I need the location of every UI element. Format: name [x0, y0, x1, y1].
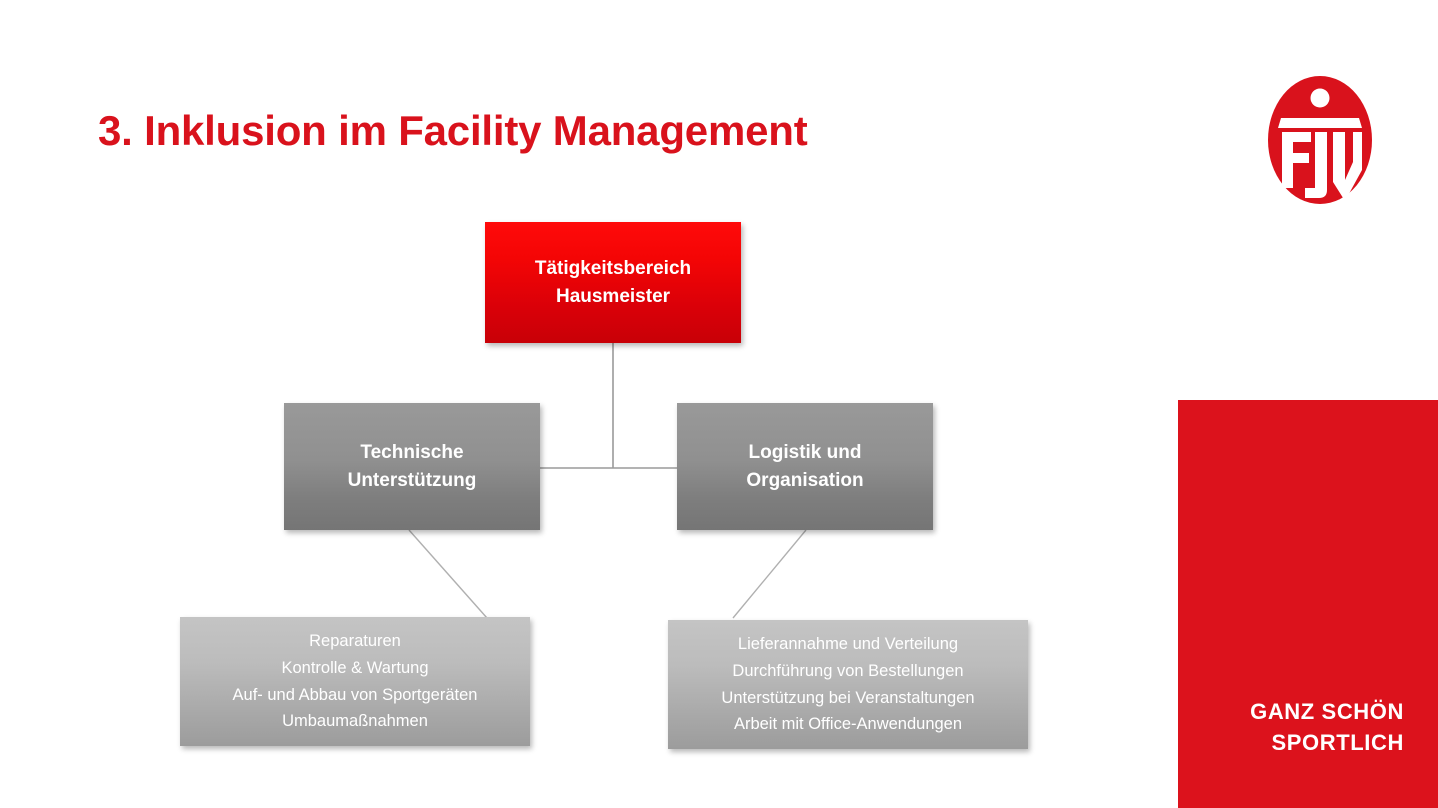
node-root[interactable]: Tätigkeitsbereich Hausmeister: [485, 222, 741, 343]
list-item: Kontrolle & Wartung: [281, 655, 428, 682]
connector-right-diagonal: [733, 530, 806, 618]
node-branch-logistik[interactable]: Logistik und Organisation: [677, 403, 933, 530]
node-branch-technische[interactable]: Technische Unterstützung: [284, 403, 540, 530]
node-list-logistik[interactable]: Lieferannahme und Verteilung Durchführun…: [668, 620, 1028, 749]
brand-slogan: GANZ SCHÖN SPORTLICH: [1250, 697, 1404, 758]
ftv-logo: [1261, 70, 1379, 210]
ftv-oval-monogram-icon: [1261, 70, 1379, 210]
brand-side-panel: GANZ SCHÖN SPORTLICH: [1178, 400, 1438, 808]
list-item: Unterstützung bei Veranstaltungen: [721, 685, 974, 712]
slide-canvas: 3. Inklusion im Facility Management GANZ…: [0, 0, 1438, 808]
list-item: Lieferannahme und Verteilung: [738, 631, 958, 658]
list-item: Durchführung von Bestellungen: [732, 658, 963, 685]
connector-left-diagonal: [409, 530, 487, 618]
list-item: Reparaturen: [309, 628, 401, 655]
node-list-technische[interactable]: Reparaturen Kontrolle & Wartung Auf- und…: [180, 617, 530, 746]
org-chart: Tätigkeitsbereich Hausmeister Technische…: [0, 0, 1160, 808]
node-root-label: Tätigkeitsbereich Hausmeister: [535, 255, 691, 310]
list-item: Umbaumaßnahmen: [282, 708, 428, 735]
list-item: Arbeit mit Office-Anwendungen: [734, 711, 962, 738]
node-branch-logistik-label: Logistik und Organisation: [746, 439, 863, 494]
list-item: Auf- und Abbau von Sportgeräten: [233, 682, 478, 709]
node-branch-technische-label: Technische Unterstützung: [348, 439, 477, 494]
